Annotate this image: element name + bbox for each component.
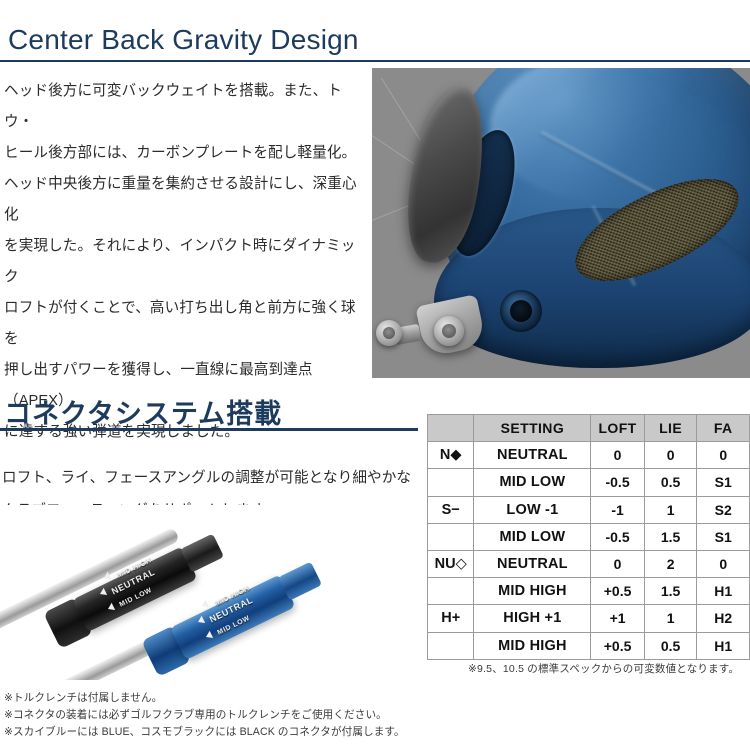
cell-loft: 0	[591, 442, 644, 469]
table-row: N◆NEUTRAL000	[428, 442, 750, 469]
cell-code	[428, 632, 474, 659]
cell-loft: 0	[591, 551, 644, 578]
cell-setting: MID HIGH	[474, 578, 591, 605]
page-root: Center Back Gravity Design ヘッド後方に可変バックウェ…	[0, 0, 750, 750]
table-row: MID HIGH+0.50.5H1	[428, 632, 750, 659]
table-row: MID HIGH+0.51.5H1	[428, 578, 750, 605]
col-header-loft: LOFT	[591, 415, 644, 442]
col-header-fa: FA	[697, 415, 750, 442]
cell-fa: H2	[697, 605, 750, 632]
cell-code	[428, 523, 474, 550]
footnotes: ※トルクレンチは付属しません。 ※コネクタの装着には必ずゴルフクラブ専用のトルク…	[4, 690, 444, 741]
cell-lie: 1	[644, 605, 697, 632]
table-row: MID LOW-0.51.5S1	[428, 523, 750, 550]
spec-table-body: N◆NEUTRAL000MID LOW-0.50.5S1S−LOW -1-11S…	[428, 442, 750, 660]
cell-setting: NEUTRAL	[474, 551, 591, 578]
weight-insert-hole	[442, 324, 456, 338]
cell-lie: 2	[644, 551, 697, 578]
cell-loft: +0.5	[591, 578, 644, 605]
cell-code	[428, 469, 474, 496]
col-header-lie: LIE	[644, 415, 697, 442]
cell-lie: 1	[644, 496, 697, 523]
cell-fa: H1	[697, 578, 750, 605]
title-divider-connector	[0, 428, 418, 431]
cell-loft: -0.5	[591, 469, 644, 496]
table-row: MID LOW-0.50.5S1	[428, 469, 750, 496]
spec-table: SETTING LOFT LIE FA N◆NEUTRAL000MID LOW-…	[427, 414, 750, 660]
section-title-connector: コネクタシステム搭載	[4, 392, 282, 431]
cell-code	[428, 578, 474, 605]
cell-lie: 0	[644, 442, 697, 469]
title-divider-gravity	[0, 60, 750, 62]
cell-loft: -0.5	[591, 523, 644, 550]
weight-screw-torx	[383, 327, 395, 339]
spec-table-note: ※9.5、10.5 の標準スペックからの可変数値となります。	[468, 661, 739, 676]
cell-code: H+	[428, 605, 474, 632]
col-header-code	[428, 415, 474, 442]
cell-setting: MID LOW	[474, 469, 591, 496]
cell-lie: 0.5	[644, 632, 697, 659]
cell-fa: 0	[697, 551, 750, 578]
cell-fa: S1	[697, 523, 750, 550]
cell-setting: LOW -1	[474, 496, 591, 523]
product-image-driver-head	[372, 68, 750, 378]
cell-setting: NEUTRAL	[474, 442, 591, 469]
weight-port-hole	[510, 300, 532, 322]
cell-loft: +0.5	[591, 632, 644, 659]
section-title-gravity: Center Back Gravity Design	[8, 24, 359, 56]
cell-loft: +1	[591, 605, 644, 632]
cell-loft: -1	[591, 496, 644, 523]
cell-fa: S2	[697, 496, 750, 523]
spec-table-header-row: SETTING LOFT LIE FA	[428, 415, 750, 442]
cell-lie: 0.5	[644, 469, 697, 496]
cell-code: NU◇	[428, 551, 474, 578]
col-header-setting: SETTING	[474, 415, 591, 442]
table-row: H+HIGH +1+11H2	[428, 605, 750, 632]
cell-lie: 1.5	[644, 523, 697, 550]
cell-fa: 0	[697, 442, 750, 469]
cell-setting: MID HIGH	[474, 632, 591, 659]
table-row: NU◇NEUTRAL020	[428, 551, 750, 578]
table-row: S−LOW -1-11S2	[428, 496, 750, 523]
cell-setting: MID LOW	[474, 523, 591, 550]
cell-code: N◆	[428, 442, 474, 469]
cell-fa: H1	[697, 632, 750, 659]
connector-image: MID HIGH NEUTRAL MID LOW MID HIGH NEUTRA…	[0, 505, 415, 680]
cell-code: S−	[428, 496, 474, 523]
cell-setting: HIGH +1	[474, 605, 591, 632]
spec-table-head: SETTING LOFT LIE FA	[428, 415, 750, 442]
cell-fa: S1	[697, 469, 750, 496]
cell-lie: 1.5	[644, 578, 697, 605]
sleeve-blue	[170, 574, 295, 660]
